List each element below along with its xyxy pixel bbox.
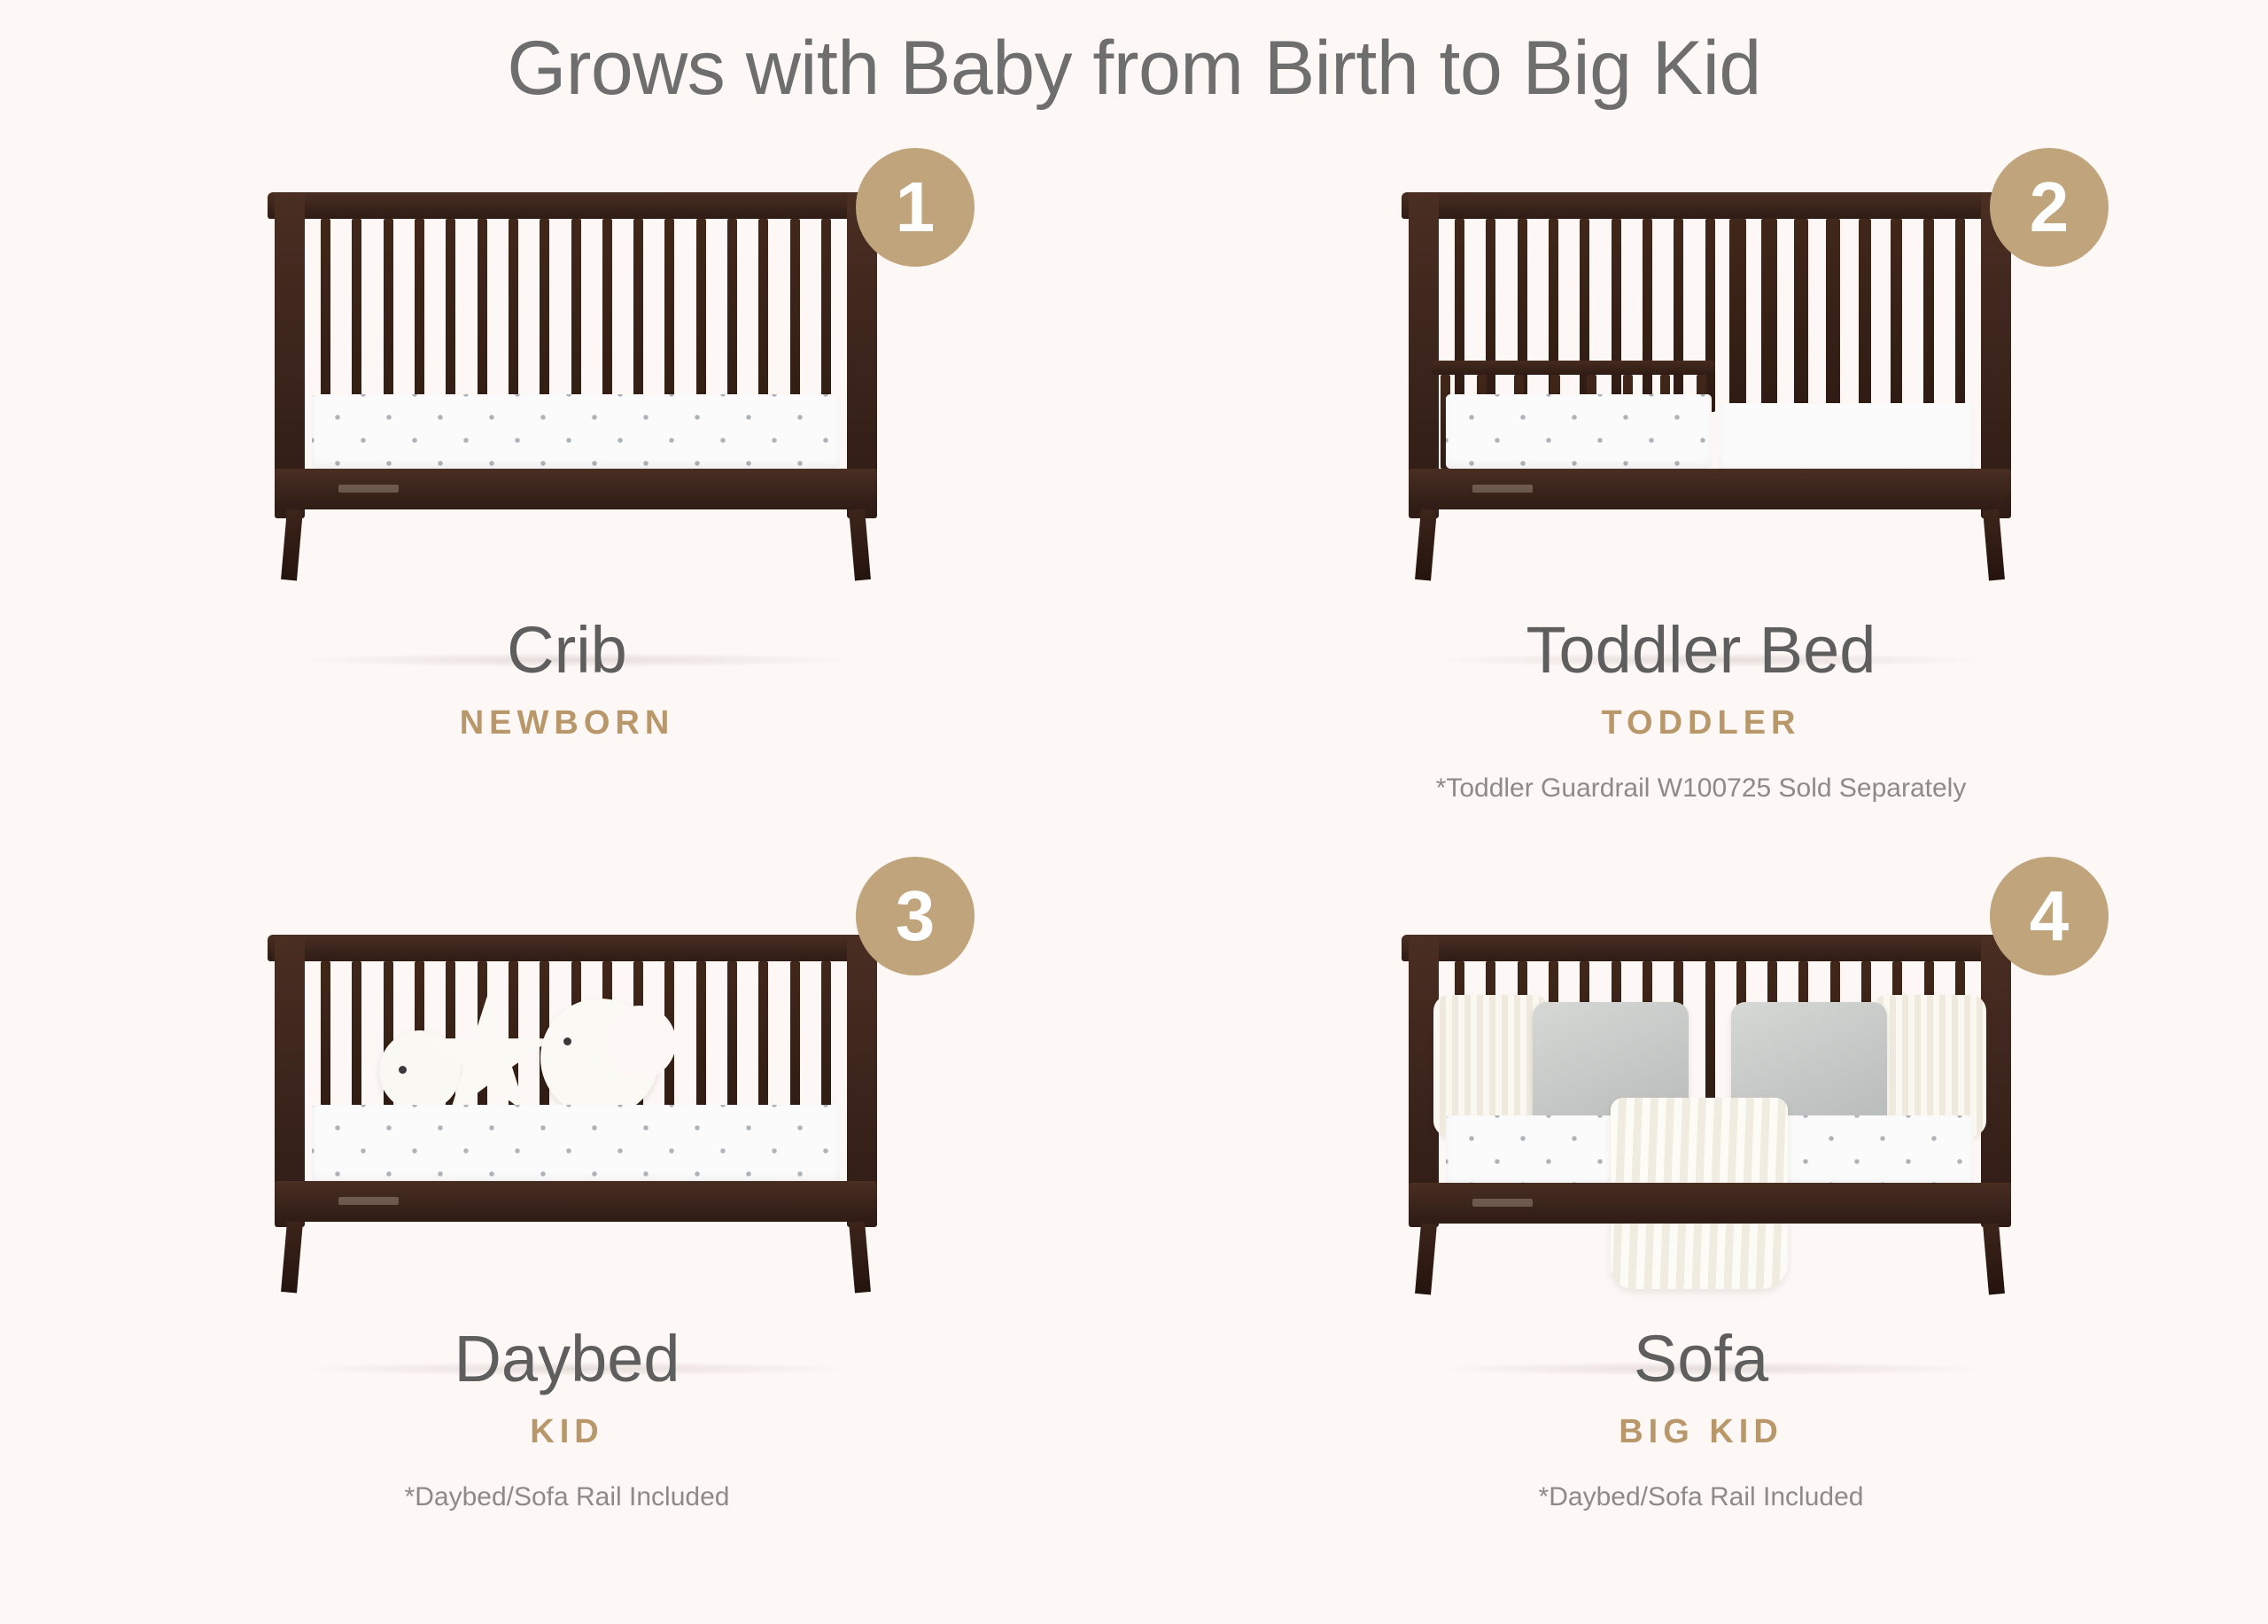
toddler-bed-icon: [1382, 173, 2038, 598]
brand-logo-plate: [1472, 1199, 1533, 1207]
toddler-right-slats: [1729, 219, 1965, 416]
toddler-mattress-left: [1446, 394, 1712, 469]
sofa-leg-right: [1983, 1223, 2005, 1294]
sofa-leg-left: [1415, 1223, 1437, 1294]
daybed-leg-left: [281, 1221, 303, 1293]
toddler-top-rail: [1402, 192, 2018, 219]
daybed-mattress: [312, 1105, 840, 1183]
crib-icon: [248, 173, 904, 598]
crib-product-image: [248, 173, 904, 598]
toddler-mattress-right: [1719, 403, 1974, 472]
toddler-guardrail-top: [1432, 361, 1715, 375]
age-label-toddler-bed: TODDLER: [1134, 704, 2268, 742]
brand-logo-plate: [1472, 485, 1533, 493]
crib-leg-right: [849, 509, 871, 580]
crib-mattress: [312, 394, 840, 469]
stage-number-badge-3: 3: [856, 857, 975, 975]
age-label-crib: NEWBORN: [0, 704, 1134, 742]
toddler-leg-right: [1983, 509, 2005, 580]
stage-panel-crib[interactable]: 1 Cri: [0, 164, 1134, 890]
footnote-sofa: *Daybed/Sofa Rail Included: [1134, 1482, 2268, 1512]
age-label-sofa: BIG KID: [1134, 1413, 2268, 1451]
daybed-top-rail: [268, 935, 884, 961]
product-name-crib: Crib: [0, 612, 1134, 688]
product-name-daybed: Daybed: [0, 1321, 1134, 1396]
toddler-leg-left: [1415, 509, 1437, 580]
sofa-icon: [1382, 882, 2038, 1307]
toddler-bed-product-image: [1382, 173, 2038, 598]
page-title: Grows with Baby from Birth to Big Kid: [0, 25, 2268, 113]
daybed-icon: [248, 882, 904, 1307]
stage-number-badge-1: 1: [856, 148, 975, 267]
moon-plush-pillow: [540, 998, 659, 1117]
stage-panel-sofa[interactable]: 4: [1134, 873, 2268, 1599]
stage-panel-toddler-bed[interactable]: 2: [1134, 164, 2268, 890]
brand-logo-plate: [338, 485, 399, 493]
stage-number-badge-4: 4: [1990, 857, 2109, 975]
conversion-stage-grid: 1 Cri: [0, 164, 2268, 1617]
product-name-sofa: Sofa: [1134, 1321, 2268, 1396]
product-name-toddler-bed: Toddler Bed: [1134, 612, 2268, 688]
stage-panel-daybed[interactable]: 3: [0, 873, 1134, 1599]
sofa-top-rail: [1402, 935, 2018, 961]
brand-logo-plate: [338, 1197, 399, 1205]
crib-leg-left: [281, 509, 303, 580]
footnote-daybed: *Daybed/Sofa Rail Included: [0, 1482, 1134, 1512]
daybed-product-image: [248, 882, 904, 1307]
daybed-leg-right: [849, 1221, 871, 1293]
stage-number-badge-2: 2: [1990, 148, 2109, 267]
footnote-toddler-bed: *Toddler Guardrail W100725 Sold Separate…: [1134, 773, 2268, 804]
crib-top-rail: [268, 192, 884, 219]
age-label-daybed: KID: [0, 1413, 1134, 1451]
sofa-product-image: [1382, 882, 2038, 1307]
